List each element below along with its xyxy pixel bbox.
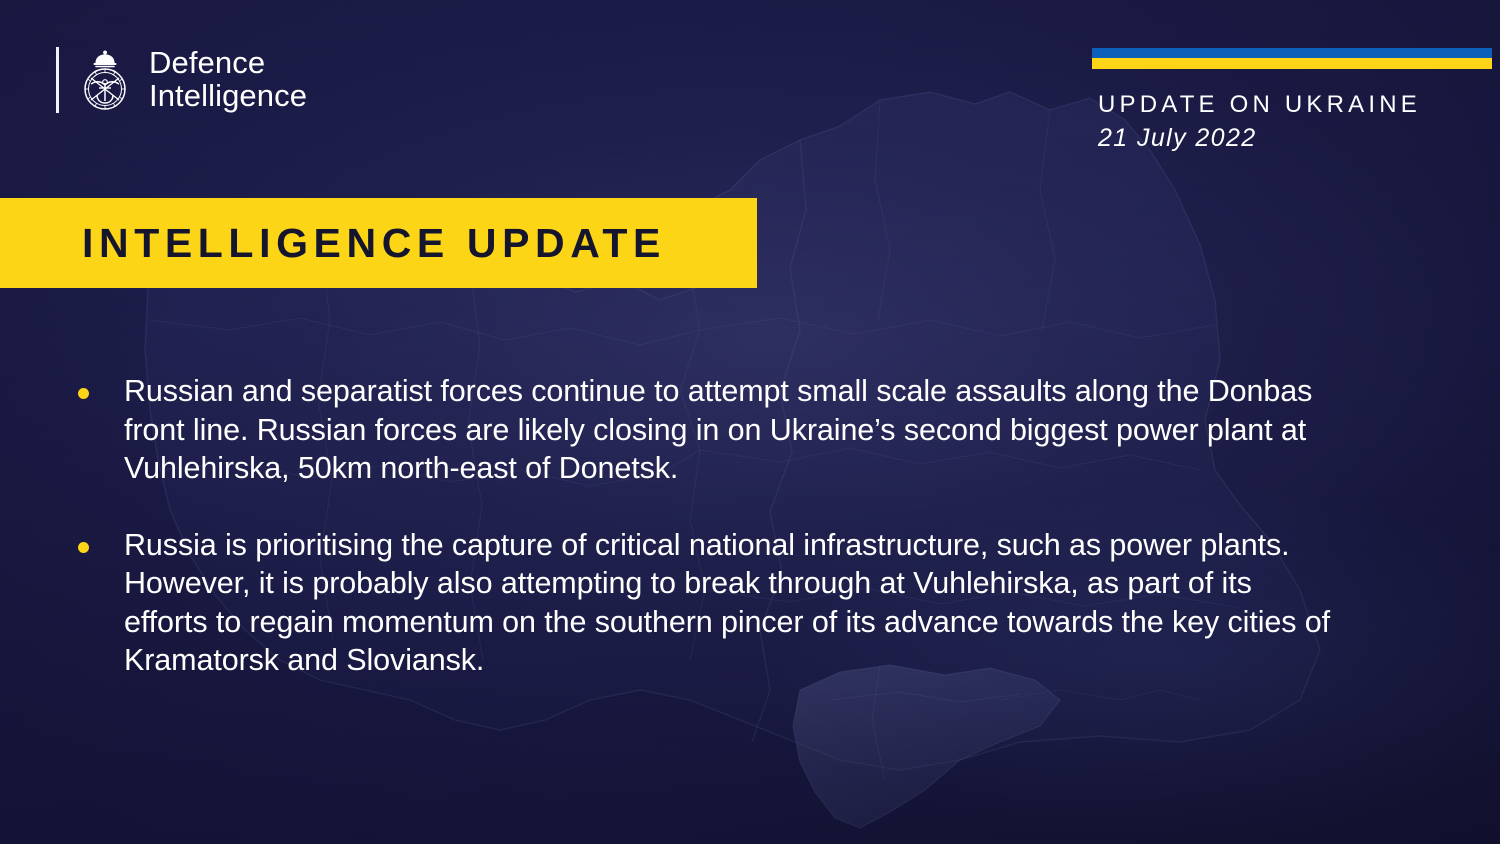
flag-stripe-blue (1092, 48, 1492, 58)
flag-stripe-yellow (1092, 58, 1492, 69)
bullet-text: Russian and separatist forces continue t… (124, 372, 1338, 488)
brand-text: Defence Intelligence (149, 47, 307, 113)
list-item: Russia is prioritising the capture of cr… (78, 526, 1338, 680)
bullet-dot-icon (78, 388, 89, 399)
update-header: UPDATE ON UKRAINE 21 July 2022 (1090, 48, 1500, 153)
intelligence-update-slide: Defence Intelligence UPDATE ON UKRAINE 2… (0, 0, 1500, 844)
brand-logo: Defence Intelligence (56, 44, 307, 116)
brand-line-defence: Defence (149, 47, 307, 80)
update-title: UPDATE ON UKRAINE (1098, 91, 1500, 119)
bullet-list: Russian and separatist forces continue t… (78, 372, 1338, 680)
bullet-text: Russia is prioritising the capture of cr… (124, 526, 1338, 680)
update-date: 21 July 2022 (1098, 124, 1500, 153)
ukraine-flag-bar-icon (1092, 48, 1492, 69)
intelligence-update-banner: INTELLIGENCE UPDATE (0, 198, 757, 288)
page-title: INTELLIGENCE UPDATE (0, 220, 666, 267)
brand-divider (56, 47, 59, 113)
defence-intelligence-crest-icon (75, 47, 135, 113)
brand-line-intelligence: Intelligence (149, 80, 307, 113)
bullet-dot-icon (78, 542, 89, 553)
list-item: Russian and separatist forces continue t… (78, 372, 1338, 488)
